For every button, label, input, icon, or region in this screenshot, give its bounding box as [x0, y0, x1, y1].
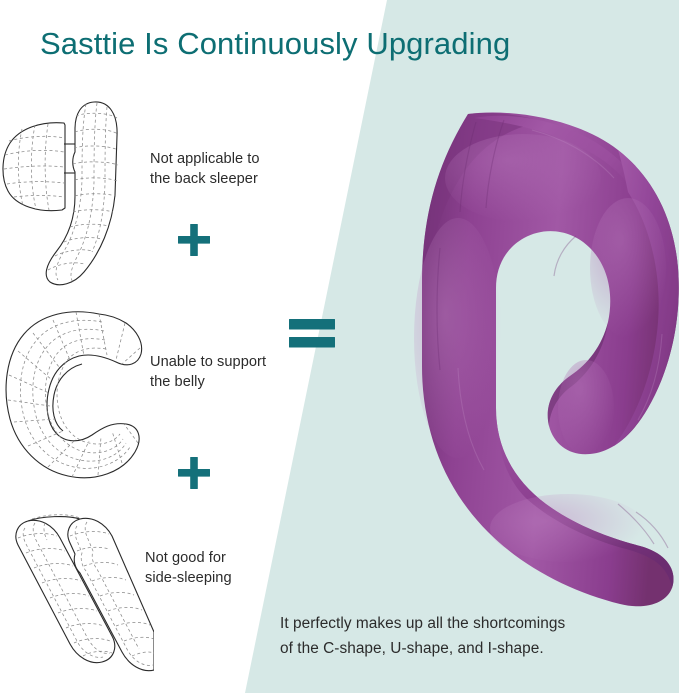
plus-operator-bottom-icon — [178, 452, 210, 494]
drawback-label-c-shape: Unable to support the belly — [150, 352, 306, 392]
product-pillow-image — [318, 108, 679, 608]
page-title: Sasttie Is Continuously Upgrading — [40, 26, 640, 62]
c-shape-pillow-wireframe — [4, 300, 146, 482]
plus-operator-top-icon — [178, 219, 210, 261]
infographic-canvas: Sasttie Is Continuously Upgrading — [0, 0, 679, 693]
drawback-line-2: the belly — [150, 372, 306, 392]
drawback-label-u-shape: Not good for side-sleeping — [145, 548, 297, 588]
drawback-label-j-shape: Not applicable to the back sleeper — [150, 149, 300, 189]
drawback-line-1: Unable to support — [150, 352, 306, 372]
product-caption: It perfectly makes up all the shortcomin… — [280, 612, 670, 662]
drawback-line-1: Not good for — [145, 548, 297, 568]
drawback-line-1: Not applicable to — [150, 149, 300, 169]
u-shape-pillow-wireframe — [2, 496, 154, 688]
caption-line-2: of the C-shape, U-shape, and I-shape. — [280, 637, 670, 662]
drawback-line-2: the back sleeper — [150, 169, 300, 189]
drawback-line-2: side-sleeping — [145, 568, 297, 588]
caption-line-1: It perfectly makes up all the shortcomin… — [280, 612, 670, 637]
j-shape-pillow-wireframe — [2, 96, 148, 288]
